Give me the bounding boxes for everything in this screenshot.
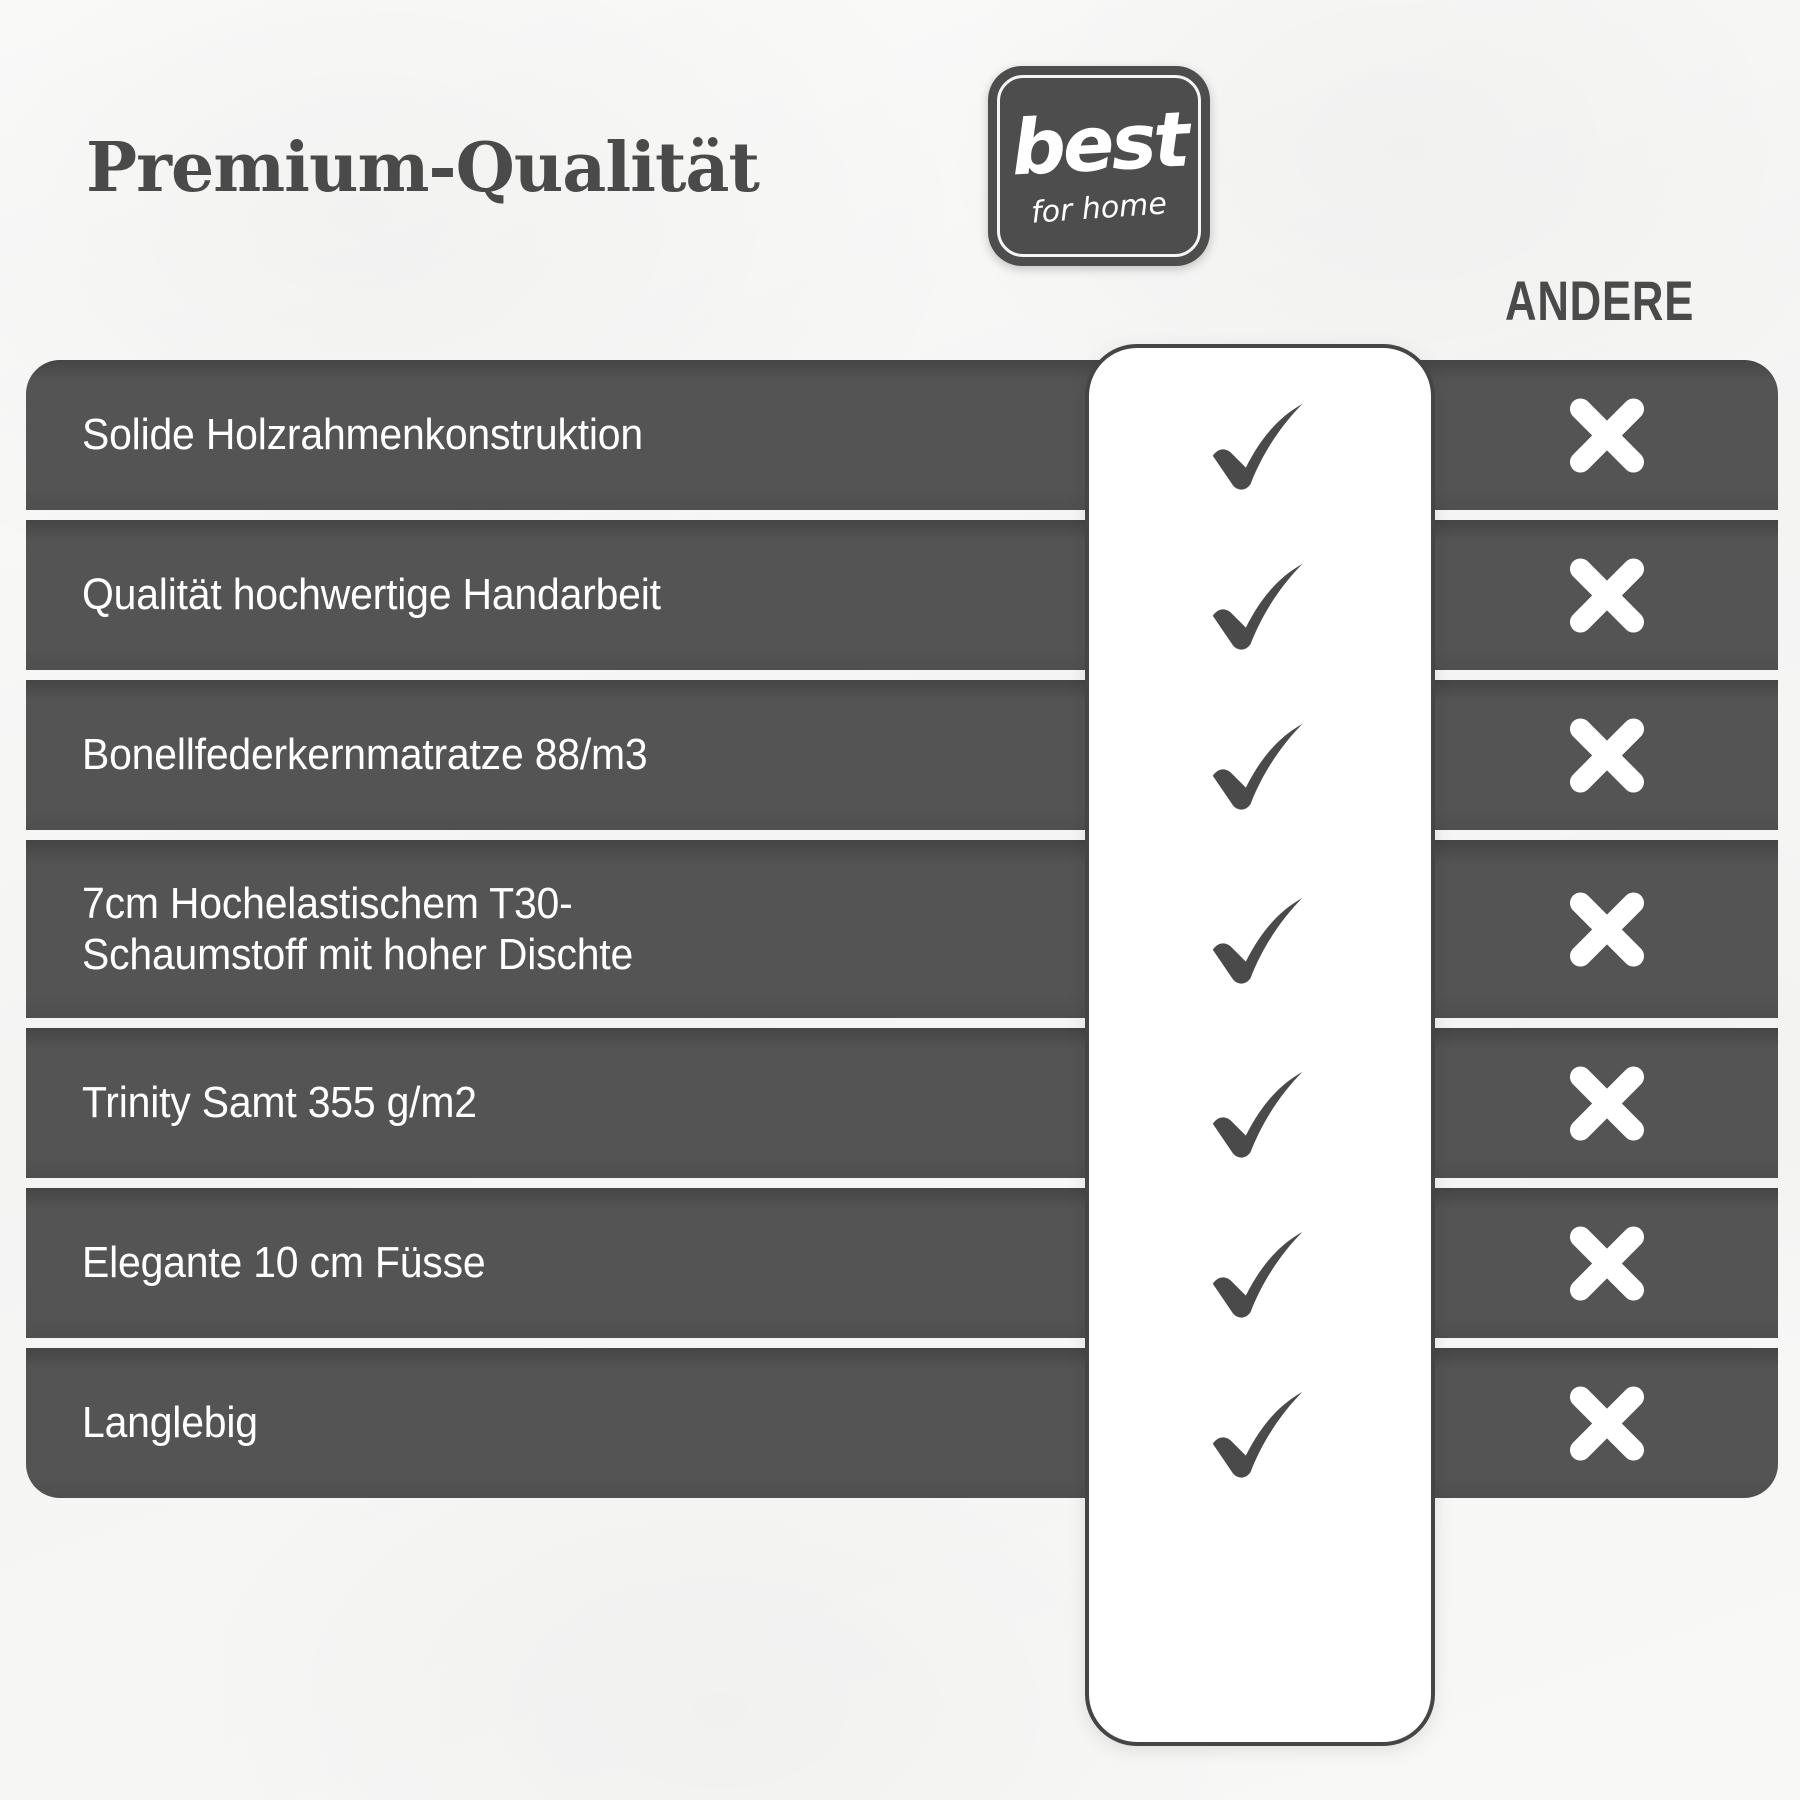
- feature-label-cell: Trinity Samt 355 g/m2: [26, 1028, 1086, 1178]
- feature-label: Bonellfederkernmatratze 88/m3: [82, 729, 648, 780]
- check-icon: [1201, 879, 1319, 997]
- cross-icon: [1561, 883, 1653, 975]
- table-row: 7cm Hochelastischem T30- Schaumstoff mit…: [26, 840, 1778, 1018]
- table-row: Bonellfederkernmatratze 88/m3: [26, 680, 1778, 830]
- others-cell: [1436, 360, 1778, 510]
- best-cell: [1089, 524, 1431, 684]
- cross-icon: [1561, 549, 1653, 641]
- table-row: Langlebig: [26, 1348, 1778, 1498]
- check-icon: [1201, 545, 1319, 663]
- check-icon: [1201, 705, 1319, 823]
- others-cell: [1436, 1188, 1778, 1338]
- best-cell: [1089, 1352, 1431, 1512]
- best-check-column: [1089, 364, 1431, 1512]
- feature-label: Trinity Samt 355 g/m2: [82, 1077, 477, 1128]
- table-row: Elegante 10 cm Füsse: [26, 1188, 1778, 1338]
- feature-label: Elegante 10 cm Füsse: [82, 1237, 485, 1288]
- best-cell: [1089, 844, 1431, 1032]
- feature-label-cell: Bonellfederkernmatratze 88/m3: [26, 680, 1086, 830]
- feature-label: Solide Holzrahmenkonstruktion: [82, 409, 643, 460]
- feature-label-cell: Solide Holzrahmenkonstruktion: [26, 360, 1086, 510]
- feature-label-cell: 7cm Hochelastischem T30- Schaumstoff mit…: [26, 840, 1086, 1018]
- check-icon: [1201, 1053, 1319, 1171]
- others-cell: [1436, 840, 1778, 1018]
- feature-label-cell: Elegante 10 cm Füsse: [26, 1188, 1086, 1338]
- cross-icon: [1561, 709, 1653, 801]
- best-cell: [1089, 684, 1431, 844]
- best-for-home-highlight-card: [1085, 344, 1435, 1746]
- table-row: Solide Holzrahmenkonstruktion: [26, 360, 1778, 510]
- best-cell: [1089, 1192, 1431, 1352]
- check-icon: [1201, 1213, 1319, 1331]
- others-cell: [1436, 680, 1778, 830]
- feature-label-cell: Qualität hochwertige Handarbeit: [26, 520, 1086, 670]
- check-icon: [1201, 385, 1319, 503]
- brand-logo-badge: best for home: [988, 66, 1210, 266]
- competitor-column-header: ANDERE: [1505, 268, 1694, 333]
- cross-icon: [1561, 1057, 1653, 1149]
- page-title: Premium-Qualität: [86, 128, 759, 208]
- logo-brand-text: best: [986, 100, 1212, 188]
- best-cell: [1089, 364, 1431, 524]
- others-cell: [1436, 1348, 1778, 1498]
- cross-icon: [1561, 389, 1653, 481]
- feature-label: Qualität hochwertige Handarbeit: [82, 569, 661, 620]
- cross-icon: [1561, 1377, 1653, 1469]
- comparison-table: Solide Holzrahmenkonstruktion Qualität h…: [26, 360, 1778, 1498]
- others-cell: [1436, 1028, 1778, 1178]
- best-cell: [1089, 1032, 1431, 1192]
- others-cell: [1436, 520, 1778, 670]
- table-row: Trinity Samt 355 g/m2: [26, 1028, 1778, 1178]
- feature-label: 7cm Hochelastischem T30- Schaumstoff mit…: [82, 878, 633, 981]
- cross-icon: [1561, 1217, 1653, 1309]
- feature-label: Langlebig: [82, 1397, 258, 1448]
- check-icon: [1201, 1373, 1319, 1491]
- table-row: Qualität hochwertige Handarbeit: [26, 520, 1778, 670]
- feature-label-cell: Langlebig: [26, 1348, 1086, 1498]
